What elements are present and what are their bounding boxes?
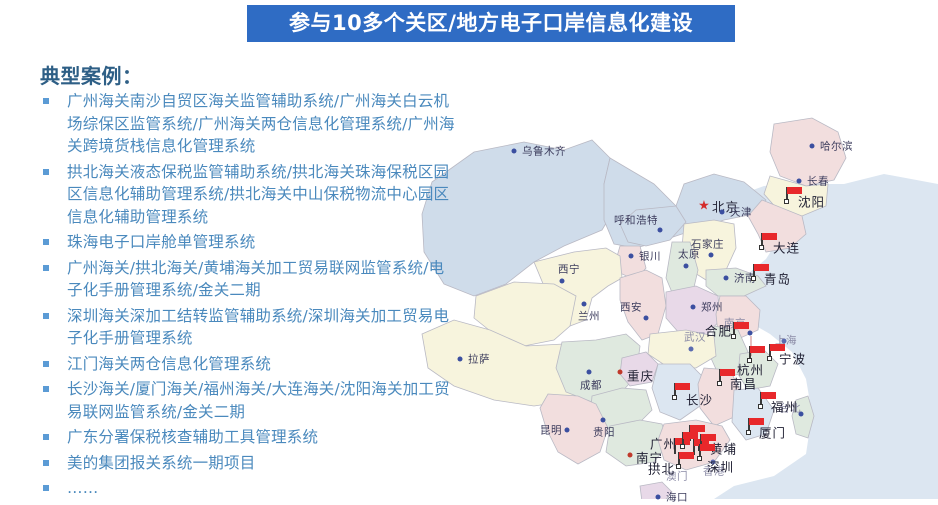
bullet-square-icon (43, 313, 49, 319)
title-banner: 参与10多个关区/地方电子口岸信息化建设 (247, 5, 735, 42)
list-item: 深圳海关深加工结转监管辅助系统/深圳海关加工贸易电子化手册管理系统 (40, 305, 460, 350)
list-item-label: 拱北海关液态保税监管辅助系统/拱北海关珠海保税区园区信息化辅助管理系统/拱北海关… (67, 161, 460, 229)
map-label-city: 贵阳 (593, 425, 615, 440)
capital-star-icon: ★ (698, 200, 710, 213)
page-title: 参与10多个关区/地方电子口岸信息化建设 (289, 13, 693, 34)
city-dot-icon (587, 370, 592, 375)
map-label-city: 拉萨 (468, 352, 490, 367)
map-label-flagged-city: 福州 (771, 397, 798, 416)
china-map-svg (414, 34, 938, 499)
map-label-city: 乌鲁木齐 (522, 144, 566, 159)
list-item-label: 深圳海关深加工结转监管辅助系统/深圳海关加工贸易电子化手册管理系统 (67, 305, 460, 350)
city-dot-icon (582, 302, 587, 307)
map-label-city: 海口 (666, 490, 688, 505)
map-label-city: 兰州 (578, 309, 600, 324)
map-label-city: 昆明 (540, 423, 562, 438)
list-item: 广东分署保税核查辅助工具管理系统 (40, 426, 460, 449)
city-dot-icon (724, 276, 729, 281)
map-label-city: 天津 (730, 205, 752, 220)
map-label-flagged-city: 广州 (650, 434, 677, 453)
map-label-flagged-city: 深圳 (707, 457, 734, 476)
list-item-label: 广州海关南沙自贸区海关监管辅助系统/广州海关白云机场综保区监管系统/广州海关两仓… (67, 90, 460, 158)
map-label-city: 成都 (580, 378, 602, 393)
bullet-square-icon (43, 98, 49, 104)
china-map: ★北京乌鲁木齐哈尔滨长春呼和浩特银川西宁兰州太原石家庄天津济南郑州西安拉萨成都重… (414, 34, 938, 499)
bullet-square-icon (43, 485, 49, 491)
map-label-flagged-city: 长沙 (686, 390, 713, 409)
city-dot-icon (618, 370, 623, 375)
city-dot-icon (810, 144, 815, 149)
list-item-label: 美的集团报关系统一期项目 (67, 452, 460, 475)
case-list-panel: 典型案例： 广州海关南沙自贸区海关监管辅助系统/广州海关白云机场综保区监管系统/… (0, 48, 470, 499)
bullet-square-icon (43, 434, 49, 440)
map-label-city: 重庆 (627, 366, 654, 385)
city-dot-icon (709, 253, 714, 258)
map-label-city: 西宁 (558, 262, 580, 277)
city-dot-icon (628, 453, 633, 458)
map-label-flagged-city: 大连 (773, 238, 800, 257)
city-dot-icon (560, 279, 565, 284)
bullet-square-icon (43, 386, 49, 392)
list-item: …… (40, 477, 460, 500)
list-item: 广州海关南沙自贸区海关监管辅助系统/广州海关白云机场综保区监管系统/广州海关两仓… (40, 90, 460, 158)
list-item-label: 广东分署保税核查辅助工具管理系统 (67, 426, 460, 449)
list-item: 拱北海关液态保税监管辅助系统/拱北海关珠海保税区园区信息化辅助管理系统/拱北海关… (40, 161, 460, 229)
bullet-square-icon (43, 460, 49, 466)
map-label-flagged-city: 合肥 (705, 321, 732, 340)
map-label-city: 郑州 (701, 300, 723, 315)
map-label-flagged-city: 拱北 (648, 459, 675, 478)
bullet-square-icon (43, 239, 49, 245)
map-label-city: 武汉 (684, 330, 706, 345)
city-dot-icon (512, 149, 517, 154)
city-dot-icon (691, 305, 696, 310)
city-dot-icon (601, 418, 606, 423)
city-dot-icon (565, 428, 570, 433)
flag-marker-icon (733, 322, 750, 338)
map-label-flagged-city: 青岛 (764, 269, 791, 288)
map-label-flagged-city: 沈阳 (798, 192, 825, 211)
list-item-label: 珠海电子口岸舱单管理系统 (67, 231, 460, 254)
list-item-label: …… (67, 477, 460, 500)
section-heading: 典型案例： (40, 60, 143, 89)
list-item-label: 长沙海关/厦门海关/福州海关/大连海关/沈阳海关加工贸易联网监管系统/金关二期 (67, 378, 460, 423)
list-item: 江门海关两仓信息化管理系统 (40, 353, 460, 376)
city-dot-icon (797, 179, 802, 184)
city-dot-icon (684, 264, 689, 269)
list-item: 广州海关/拱北海关/黄埔海关加工贸易联网监管系统/电子化手册管理系统/金关二期 (40, 257, 460, 302)
map-label-flagged-city: 宁波 (779, 349, 806, 368)
list-item-label: 江门海关两仓信息化管理系统 (67, 353, 460, 376)
bullet-square-icon (43, 169, 49, 175)
list-item: 美的集团报关系统一期项目 (40, 452, 460, 475)
map-label-flagged-city: 南昌 (730, 374, 757, 393)
city-dot-icon (720, 210, 725, 215)
bullet-square-icon (43, 361, 49, 367)
map-label-city: 石家庄 (691, 237, 724, 252)
map-label-city: 长春 (807, 174, 829, 189)
case-list: 广州海关南沙自贸区海关监管辅助系统/广州海关白云机场综保区监管系统/广州海关两仓… (40, 90, 460, 503)
map-label-city: 哈尔滨 (820, 139, 853, 154)
map-label-city: 西安 (620, 300, 642, 315)
list-item: 长沙海关/厦门海关/福州海关/大连海关/沈阳海关加工贸易联网监管系统/金关二期 (40, 378, 460, 423)
list-item-label: 广州海关/拱北海关/黄埔海关加工贸易联网监管系统/电子化手册管理系统/金关二期 (67, 257, 460, 302)
flag-marker-icon (678, 452, 695, 468)
city-dot-icon (644, 316, 649, 321)
map-label-city: 呼和浩特 (614, 213, 658, 228)
flag-marker-icon (682, 432, 699, 448)
city-dot-icon (629, 254, 634, 259)
city-dot-icon (689, 347, 694, 352)
list-item: 珠海电子口岸舱单管理系统 (40, 231, 460, 254)
map-label-flagged-city: 厦门 (759, 423, 786, 442)
city-dot-icon (658, 228, 663, 233)
bullet-square-icon (43, 265, 49, 271)
map-label-city: 银川 (639, 249, 661, 264)
